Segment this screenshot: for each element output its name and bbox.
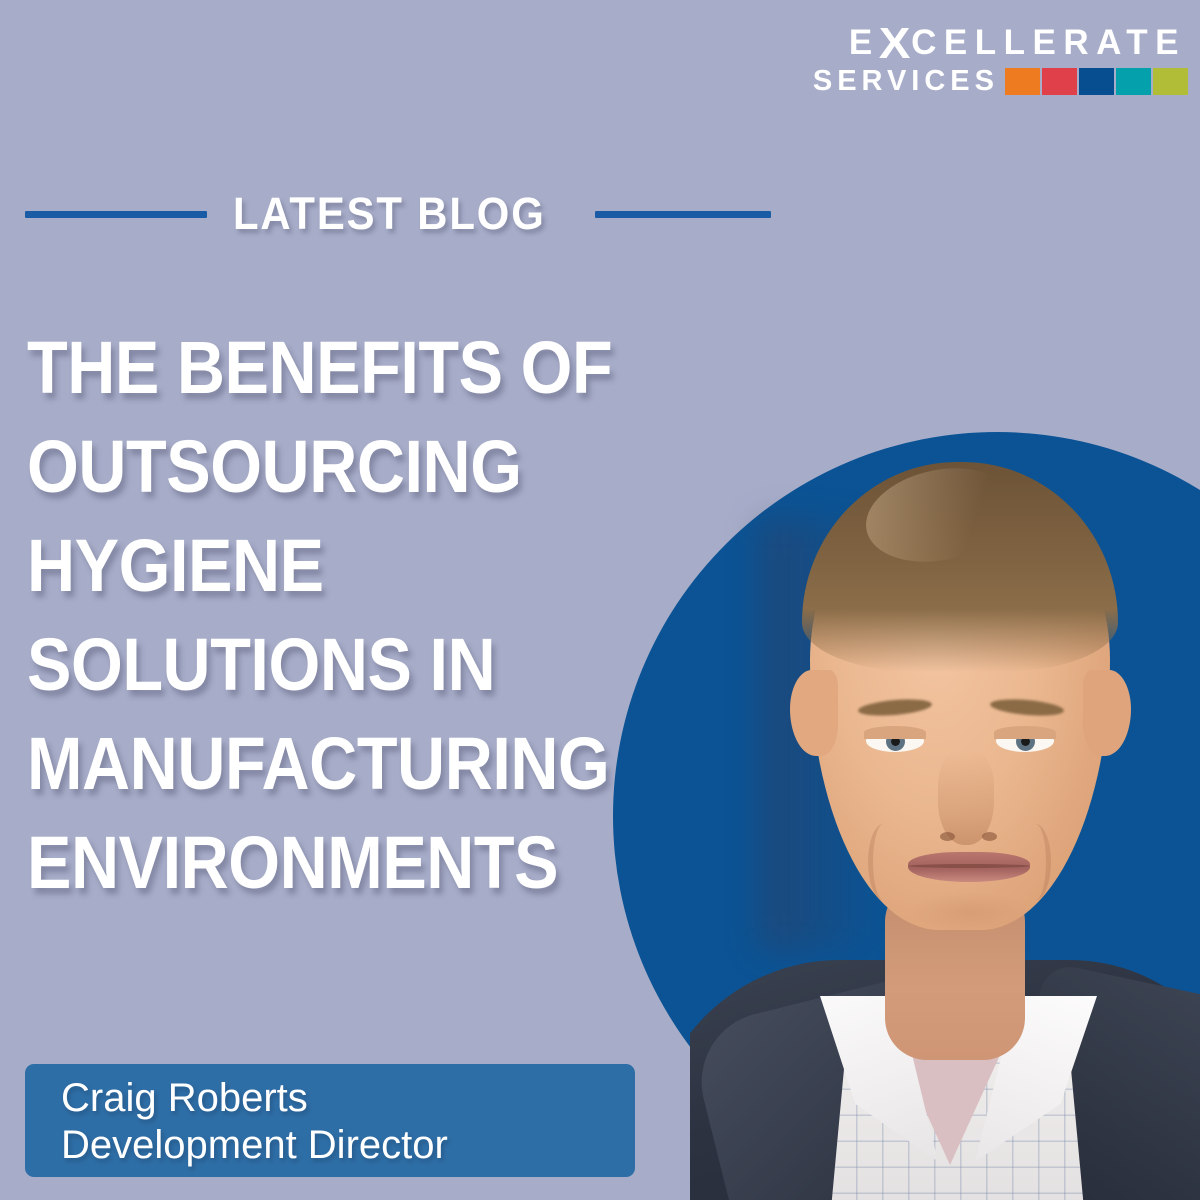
eyebrow-rule-right [595, 211, 771, 218]
logo-wordmark-suffix: CELLERATE [911, 24, 1186, 62]
swatch-orange [1005, 68, 1040, 95]
social-post-canvas: E X CELLERATE SERVICES LATEST BLOG THE B… [0, 0, 1200, 1200]
author-role: Development Director [61, 1122, 635, 1169]
portrait-lip-line [908, 864, 1030, 868]
logo-wordmark: E X CELLERATE [849, 24, 1188, 62]
portrait-nostril-left [940, 832, 955, 841]
eyebrow-row: LATEST BLOG [25, 186, 795, 242]
author-banner: Craig Roberts Development Director [25, 1064, 635, 1177]
portrait-eyelid-right [994, 726, 1056, 739]
eyebrow-rule-left [25, 211, 207, 218]
logo-letter-e: E [849, 24, 880, 62]
headline-line-5: MANUFACTURING [27, 714, 693, 813]
excellerate-services-logo: E X CELLERATE SERVICES [813, 24, 1188, 96]
logo-color-swatches [1005, 68, 1188, 95]
swatch-lime [1153, 68, 1188, 95]
headline-line-4: SOLUTIONS IN [27, 615, 693, 714]
logo-x-icon: X [878, 26, 912, 61]
headline-line-6: ENVIRONMENTS [27, 813, 693, 912]
portrait-chin [910, 892, 1028, 932]
swatch-blue [1079, 68, 1114, 95]
eyebrow-label: LATEST BLOG [233, 188, 546, 240]
author-portrait-photo [690, 400, 1200, 1200]
swatch-teal [1116, 68, 1151, 95]
swatch-red [1042, 68, 1077, 95]
portrait-ear-left [790, 670, 838, 756]
portrait-eyelid-left [864, 726, 926, 739]
portrait-ear-right [1083, 670, 1131, 756]
headline-line-1: THE BENEFITS OF [27, 318, 693, 417]
portrait-smile-line-left [868, 824, 899, 900]
portrait-nose [938, 750, 994, 845]
logo-subline-row: SERVICES [813, 66, 1188, 96]
logo-subline: SERVICES [813, 66, 999, 96]
headline-line-3: HYGIENE [27, 516, 693, 615]
portrait-nostril-right [982, 832, 997, 841]
page-title: THE BENEFITS OFOUTSOURCINGHYGIENESOLUTIO… [27, 318, 693, 912]
headline-line-2: OUTSOURCING [27, 417, 693, 516]
author-name: Craig Roberts [61, 1075, 635, 1122]
